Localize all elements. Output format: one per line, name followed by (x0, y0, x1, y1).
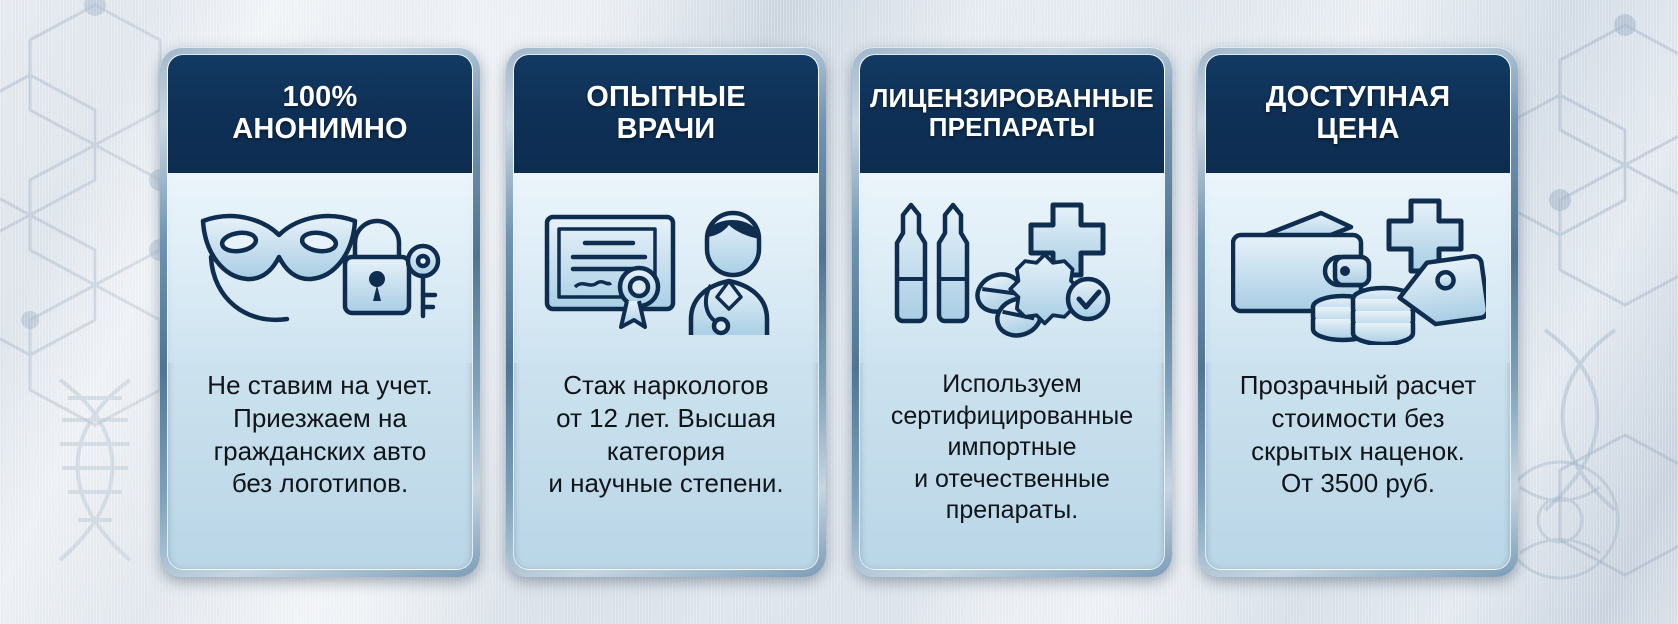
benefit-card-affordable-price: ДОСТУПНАЯ ЦЕНА (1198, 47, 1518, 577)
quality-badge-icon (1010, 255, 1108, 324)
card-body-experienced-doctors: Стаж наркологов от 12 лет. Высшая катего… (514, 363, 818, 569)
card-header-licensed-drugs: ЛИЦЕНЗИРОВАННЫЕ ПРЕПАРАТЫ (860, 55, 1164, 173)
card-body-affordable-price: Прозрачный расчет стоимости без скрытых … (1206, 363, 1510, 569)
padlock-icon (345, 221, 409, 313)
benefit-card-anonymity: 100% АНОНИМНО (160, 47, 480, 577)
card-header-experienced-doctors: ОПЫТНЫЕ ВРАЧИ (514, 55, 818, 173)
card-title: ОПЫТНЫЕ ВРАЧИ (586, 81, 746, 146)
card-title: 100% АНОНИМНО (232, 81, 408, 146)
card-icon-group-doctors (514, 173, 818, 363)
key-icon (408, 246, 438, 316)
card-icon-group-price (1206, 173, 1510, 363)
card-title: ЛИЦЕНЗИРОВАННЫЕ ПРЕПАРАТЫ (870, 84, 1154, 142)
benefit-card-experienced-doctors: ОПЫТНЫЕ ВРАЧИ (506, 47, 826, 577)
certificate-icon (547, 217, 673, 327)
card-header-affordable-price: ДОСТУПНАЯ ЦЕНА (1206, 55, 1510, 173)
benefit-card-list: 100% АНОНИМНО (0, 0, 1678, 624)
card-title: ДОСТУПНАЯ ЦЕНА (1266, 81, 1451, 146)
card-icon-group-anonymity (168, 173, 472, 363)
doctor-icon (691, 213, 767, 335)
benefit-card-licensed-drugs: ЛИЦЕНЗИРОВАННЫЕ ПРЕПАРАТЫ (852, 47, 1172, 577)
card-body-anonymity: Не ставим на учет. Приезжаем на гражданс… (168, 363, 472, 569)
card-body-licensed-drugs: Используем сертифицированные импортные и… (860, 363, 1164, 569)
card-icon-group-drugs (860, 173, 1164, 363)
card-header-anonymity: 100% АНОНИМНО (168, 55, 472, 173)
benefits-banner: 100% АНОНИМНО (0, 0, 1678, 624)
mask-icon (203, 216, 355, 320)
ampoule-icon (897, 205, 967, 321)
